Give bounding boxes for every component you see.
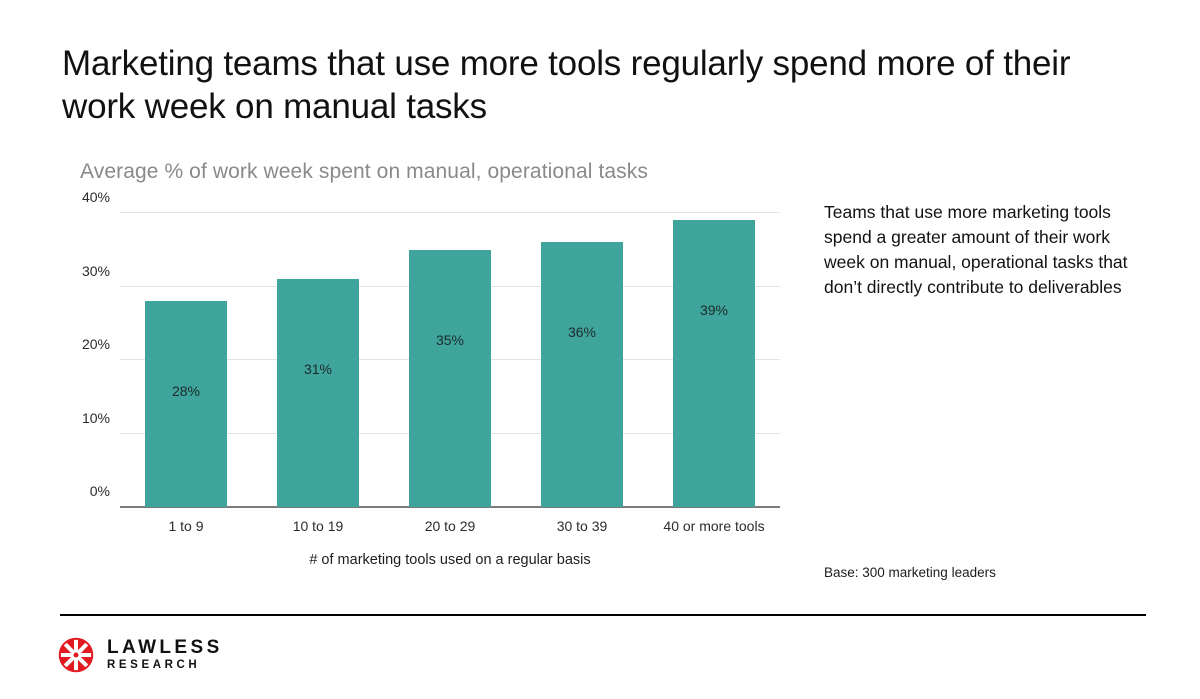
logo-wordmark: LAWLESS RESEARCH: [107, 638, 223, 672]
base-note: Base: 300 marketing leaders: [824, 565, 996, 580]
bar-group: 31%10 to 19: [252, 213, 384, 507]
bar-group: 36%30 to 39: [516, 213, 648, 507]
bar-value-label: 28%: [145, 383, 227, 399]
y-axis-tick-label: 40%: [82, 189, 110, 205]
x-axis-tick-label: 30 to 39: [557, 518, 608, 534]
chart-subtitle: Average % of work week spent on manual, …: [80, 160, 648, 184]
bar[interactable]: 36%: [541, 242, 623, 507]
logo-name: LAWLESS: [107, 638, 223, 657]
brand-logo: LAWLESS RESEARCH: [58, 637, 223, 673]
bar[interactable]: 39%: [673, 220, 755, 507]
y-axis-tick-label: 0%: [90, 483, 110, 499]
starburst-icon: [58, 637, 94, 673]
y-axis-tick-label: 30%: [82, 263, 110, 279]
bar-group: 39%40 or more tools: [648, 213, 780, 507]
x-axis-tick-label: 10 to 19: [293, 518, 344, 534]
page-title: Marketing teams that use more tools regu…: [62, 42, 1152, 128]
footer-divider: [60, 614, 1146, 616]
x-axis-tick-label: 20 to 29: [425, 518, 476, 534]
bar[interactable]: 28%: [145, 301, 227, 507]
bar-chart: 0%10%20%30%40%28%1 to 931%10 to 1935%20 …: [60, 196, 790, 526]
bar-group: 28%1 to 9: [120, 213, 252, 507]
bar[interactable]: 31%: [277, 279, 359, 507]
bar-value-label: 35%: [409, 332, 491, 348]
x-axis-tick-label: 40 or more tools: [663, 518, 764, 534]
bar-value-label: 36%: [541, 324, 623, 340]
x-axis-tick-label: 1 to 9: [168, 518, 203, 534]
bar-value-label: 39%: [673, 302, 755, 318]
bar-value-label: 31%: [277, 361, 359, 377]
slide-canvas: Marketing teams that use more tools regu…: [0, 0, 1200, 699]
bar[interactable]: 35%: [409, 250, 491, 507]
x-axis-title: # of marketing tools used on a regular b…: [120, 552, 780, 568]
plot-area: 0%10%20%30%40%28%1 to 931%10 to 1935%20 …: [120, 213, 780, 507]
bar-group: 35%20 to 29: [384, 213, 516, 507]
y-axis-tick-label: 10%: [82, 410, 110, 426]
insight-text: Teams that use more marketing tools spen…: [824, 200, 1134, 300]
logo-tagline: RESEARCH: [107, 660, 223, 672]
y-axis-tick-label: 20%: [82, 336, 110, 352]
